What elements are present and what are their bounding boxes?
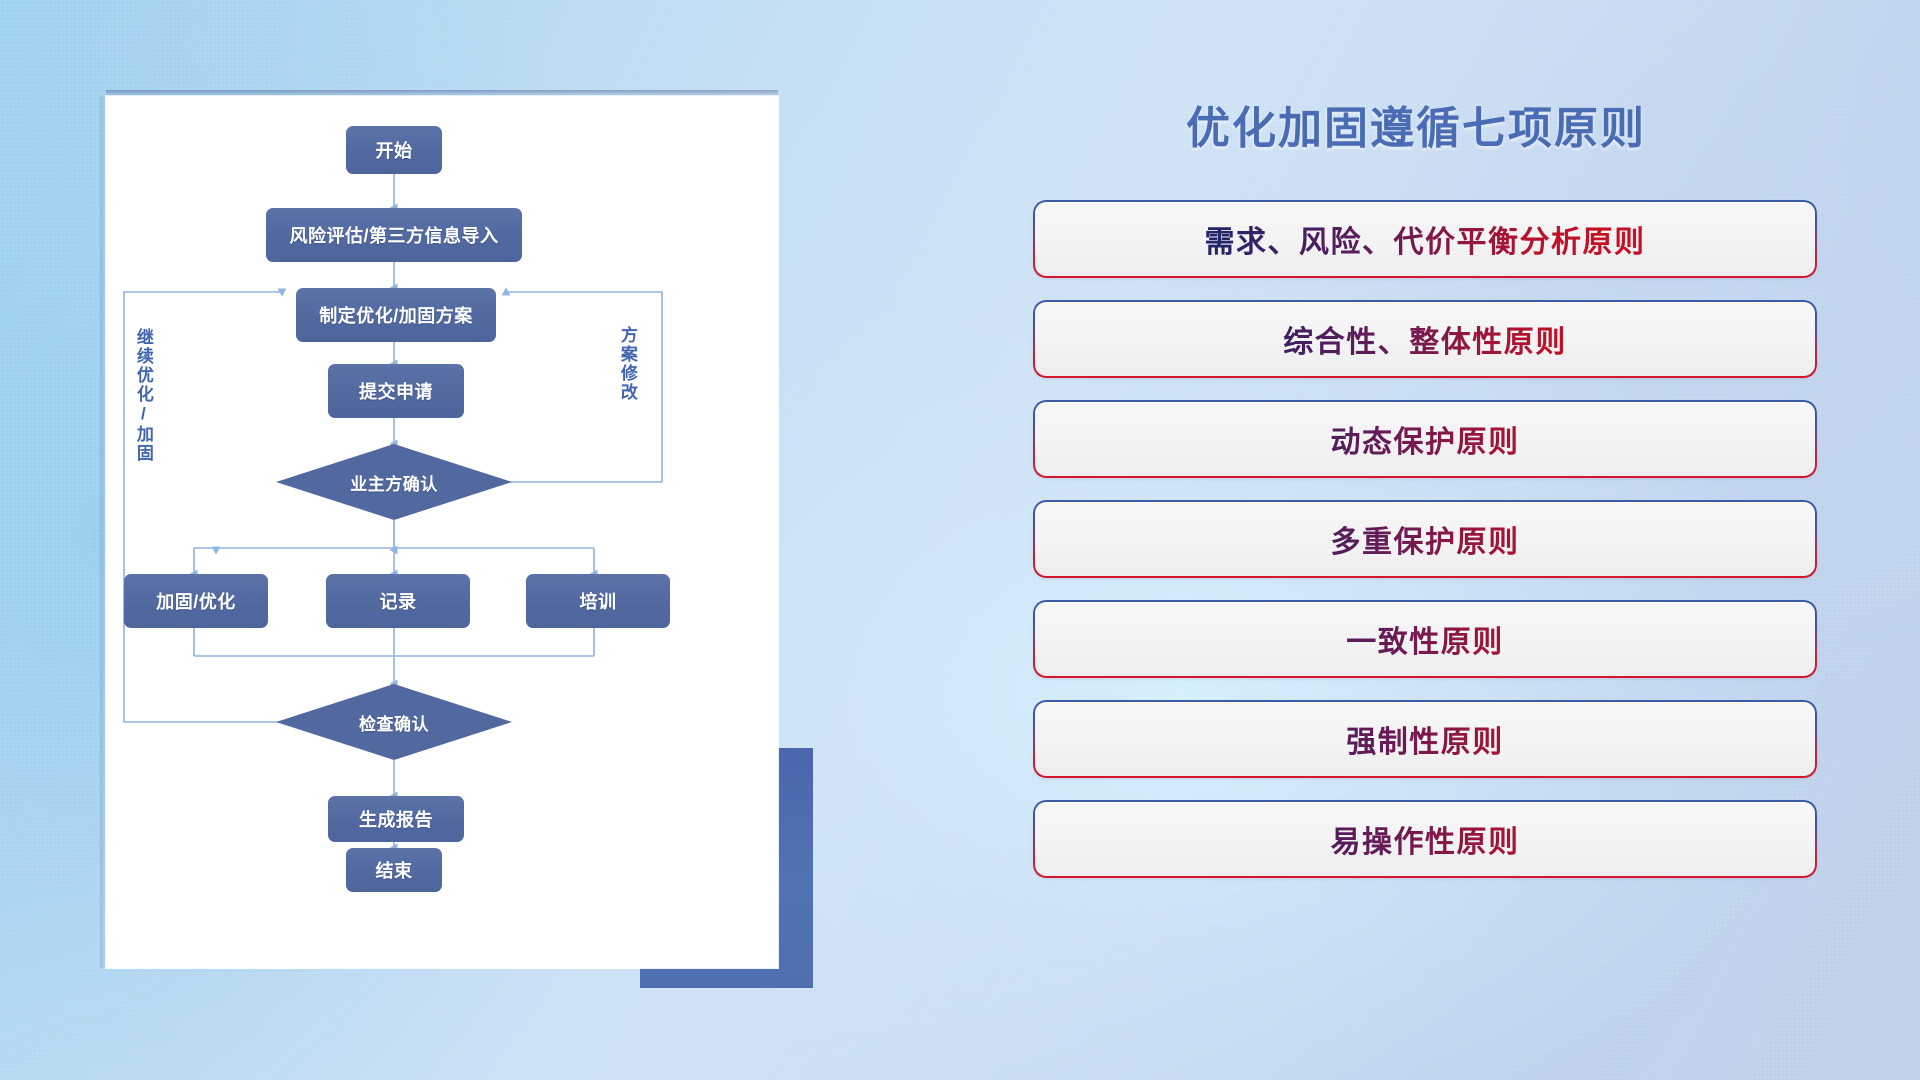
principle-card[interactable]: 动态保护原则 — [1035, 402, 1815, 476]
principle-label: 多重保护原则 — [1035, 502, 1815, 576]
principle-card[interactable]: 一致性原则 — [1035, 602, 1815, 676]
principle-card[interactable]: 强制性原则 — [1035, 702, 1815, 776]
slide-canvas: 开始 风险评估/第三方信息导入 制定优化/加固方案 提交申请 业主方确认 加固/… — [0, 0, 1920, 1080]
principle-label: 易操作性原则 — [1035, 802, 1815, 876]
principle-card[interactable]: 易操作性原则 — [1035, 802, 1815, 876]
principle-card[interactable]: 多重保护原则 — [1035, 502, 1815, 576]
flowchart-card: 开始 风险评估/第三方信息导入 制定优化/加固方案 提交申请 业主方确认 加固/… — [106, 96, 778, 968]
principle-label: 强制性原则 — [1035, 702, 1815, 776]
principle-label: 综合性、整体性原则 — [1035, 302, 1815, 376]
flowchart-diagram — [106, 96, 778, 968]
principle-label: 需求、风险、代价平衡分析原则 — [1035, 202, 1815, 276]
principle-label: 一致性原则 — [1035, 602, 1815, 676]
flow-edge-label-right-loop: 方案修改 — [618, 326, 636, 402]
flow-edge-label-left-loop: 继续优化/加固 — [134, 328, 152, 463]
panel-title: 优化加固遵循七项原则 — [1010, 92, 1840, 156]
principles-panel: 优化加固遵循七项原则 需求、风险、代价平衡分析原则 综合性、整体性原则 动态保护… — [1010, 92, 1840, 902]
principle-card[interactable]: 综合性、整体性原则 — [1035, 302, 1815, 376]
principle-card[interactable]: 需求、风险、代价平衡分析原则 — [1035, 202, 1815, 276]
principle-label: 动态保护原则 — [1035, 402, 1815, 476]
